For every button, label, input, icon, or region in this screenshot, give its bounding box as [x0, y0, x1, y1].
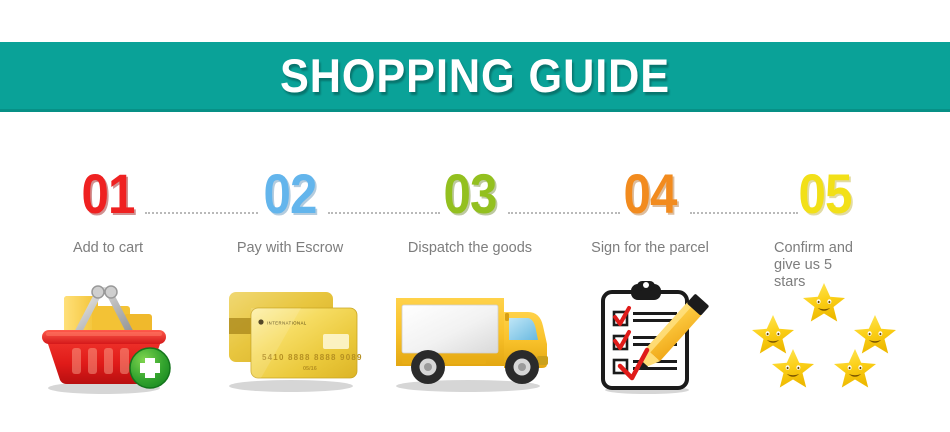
step-item-3: 03 Dispatch the goods	[375, 150, 565, 432]
step-item-2: 02 Pay with Escrow	[195, 150, 385, 432]
svg-text:05/16: 05/16	[303, 366, 317, 372]
credit-cards-icon: INTERNATIONAL 5410 8888 8888 9089 05/16	[195, 278, 385, 398]
step-number-4: 04	[566, 166, 733, 222]
step-number-5: 05	[741, 166, 908, 222]
clipboard-checklist-pencil-icon	[555, 278, 745, 398]
page-title: SHOPPING GUIDE	[280, 48, 670, 103]
step-item-1: 01 Add to cart	[13, 150, 203, 432]
svg-text:5410 8888 8888 9089: 5410 8888 8888 9089	[262, 353, 363, 362]
step-caption-2: Pay with Escrow	[195, 240, 385, 257]
step-caption-1: Add to cart	[13, 240, 203, 257]
step-caption-3: Dispatch the goods	[375, 240, 565, 257]
step-caption-4: Sign for the parcel	[555, 240, 745, 257]
shopping-basket-add-icon	[13, 278, 203, 398]
step-item-5: 05 Confirm and give us 5 stars	[730, 150, 920, 432]
step-item-4: 04 Sign for the parcel	[555, 150, 745, 432]
step-number-2: 02	[206, 166, 373, 222]
five-stars-icon	[730, 278, 920, 398]
step-number-1: 01	[24, 166, 191, 222]
step-number-3: 03	[386, 166, 553, 222]
header-banner: SHOPPING GUIDE	[0, 42, 950, 112]
delivery-truck-icon	[375, 278, 565, 398]
steps-row: 01 Add to cart	[0, 150, 950, 432]
